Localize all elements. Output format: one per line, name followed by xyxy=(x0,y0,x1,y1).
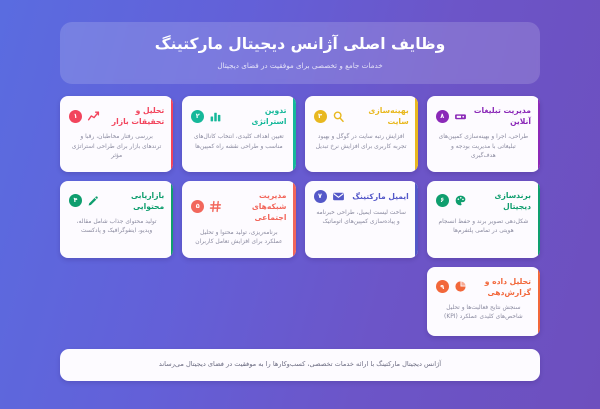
card-number-badge: ۷ xyxy=(314,190,327,203)
card-title: بازاریابی محتوایی xyxy=(105,190,164,212)
header-panel: وظایف اصلی آژانس دیجیتال مارکتینگ خدمات … xyxy=(60,22,540,84)
service-card[interactable]: ۴بازاریابی محتواییتولید محتوای جذاب شامل… xyxy=(60,181,173,258)
card-title: تدوین استراتژی xyxy=(227,105,286,127)
card-title: تحلیل داده و گزارش‌دهی xyxy=(472,276,531,298)
bar-chart-icon xyxy=(209,110,222,123)
palette-icon xyxy=(454,194,467,207)
card-number-badge: ۲ xyxy=(191,110,204,123)
card-header: ۳بهینه‌سازی سایت xyxy=(314,105,409,127)
card-number-badge: ۹ xyxy=(436,280,449,293)
infographic-stage: وظایف اصلی آژانس دیجیتال مارکتینگ خدمات … xyxy=(0,0,600,409)
card-title: بهینه‌سازی سایت xyxy=(350,105,409,127)
service-card[interactable]: ۸مدیریت تبلیغات آنلاینطراحی، اجرا و بهین… xyxy=(427,96,540,172)
card-description: تولید محتوای جذاب شامل مقاله، ویدیو، این… xyxy=(69,218,164,237)
card-title: برندسازی دیجیتال xyxy=(472,190,531,212)
card-description: افزایش رتبه سایت در گوگل و بهبود تجربه ک… xyxy=(314,133,409,152)
card-description: طراحی، اجرا و بهینه‌سازی کمپین‌های تبلیغ… xyxy=(436,133,531,162)
megaphone-icon xyxy=(454,110,467,123)
card-title: ایمیل مارکتینگ xyxy=(350,191,409,202)
card-description: ساخت لیست ایمیل، طراحی خبرنامه و پیاده‌س… xyxy=(314,209,409,228)
card-description: برنامه‌ریزی، تولید محتوا و تحلیل عملکرد … xyxy=(191,229,286,248)
card-title: مدیریت تبلیغات آنلاین xyxy=(472,105,531,127)
page-title: وظایف اصلی آژانس دیجیتال مارکتینگ xyxy=(78,34,522,55)
card-description: تعیین اهداف کلیدی، انتخاب کانال‌های مناس… xyxy=(191,133,286,152)
card-header: ۱تحلیل و تحقیقات بازار xyxy=(69,105,164,127)
footer-text: آژانس دیجیتال مارکتینگ با ارائه خدمات تخ… xyxy=(74,360,526,370)
card-number-badge: ۸ xyxy=(436,110,449,123)
card-number-badge: ۱ xyxy=(69,110,82,123)
service-card[interactable]: ۳بهینه‌سازی سایتافزایش رتبه سایت در گوگل… xyxy=(305,96,418,172)
card-header: ۹تحلیل داده و گزارش‌دهی xyxy=(436,276,531,298)
card-header: ۵مدیریت شبکه‌های اجتماعی xyxy=(191,190,286,223)
card-header: ۲تدوین استراتژی xyxy=(191,105,286,127)
service-card[interactable]: ۵مدیریت شبکه‌های اجتماعیبرنامه‌ریزی، تول… xyxy=(182,181,295,258)
card-description: شکل‌دهی تصویر برند و حفظ انسجام هویتی در… xyxy=(436,218,531,237)
service-card[interactable]: ۹تحلیل داده و گزارش‌دهیسنجش نتایج فعالیت… xyxy=(427,267,540,336)
pencil-icon xyxy=(87,194,100,207)
card-header: ۶برندسازی دیجیتال xyxy=(436,190,531,212)
hashtag-icon xyxy=(209,200,222,213)
card-number-badge: ۴ xyxy=(69,194,82,207)
trend-line-icon xyxy=(87,110,100,123)
service-card[interactable]: ۲تدوین استراتژیتعیین اهداف کلیدی، انتخاب… xyxy=(182,96,295,172)
card-header: ۷ایمیل مارکتینگ xyxy=(314,190,409,203)
card-number-badge: ۳ xyxy=(314,110,327,123)
page-subtitle: خدمات جامع و تخصصی برای موفقیت در فضای د… xyxy=(78,61,522,71)
card-header: ۸مدیریت تبلیغات آنلاین xyxy=(436,105,531,127)
card-title: تحلیل و تحقیقات بازار xyxy=(105,105,164,127)
card-number-badge: ۵ xyxy=(191,200,204,213)
service-card[interactable]: ۷ایمیل مارکتینگساخت لیست ایمیل، طراحی خب… xyxy=(305,181,418,258)
pie-chart-icon xyxy=(454,280,467,293)
envelope-icon xyxy=(332,190,345,203)
card-description: سنجش نتایج فعالیت‌ها و تحلیل شاخص‌های کل… xyxy=(436,304,531,323)
card-header: ۴بازاریابی محتوایی xyxy=(69,190,164,212)
footer-panel: آژانس دیجیتال مارکتینگ با ارائه خدمات تخ… xyxy=(60,349,540,381)
service-card-grid: ۸مدیریت تبلیغات آنلاینطراحی، اجرا و بهین… xyxy=(60,96,540,336)
service-card[interactable]: ۱تحلیل و تحقیقات بازاربررسی رفتار مخاطبا… xyxy=(60,96,173,172)
search-icon xyxy=(332,110,345,123)
service-card[interactable]: ۶برندسازی دیجیتالشکل‌دهی تصویر برند و حف… xyxy=(427,181,540,258)
card-number-badge: ۶ xyxy=(436,194,449,207)
card-title: مدیریت شبکه‌های اجتماعی xyxy=(227,190,286,223)
card-description: بررسی رفتار مخاطبان، رقبا و ترندهای بازا… xyxy=(69,133,164,162)
